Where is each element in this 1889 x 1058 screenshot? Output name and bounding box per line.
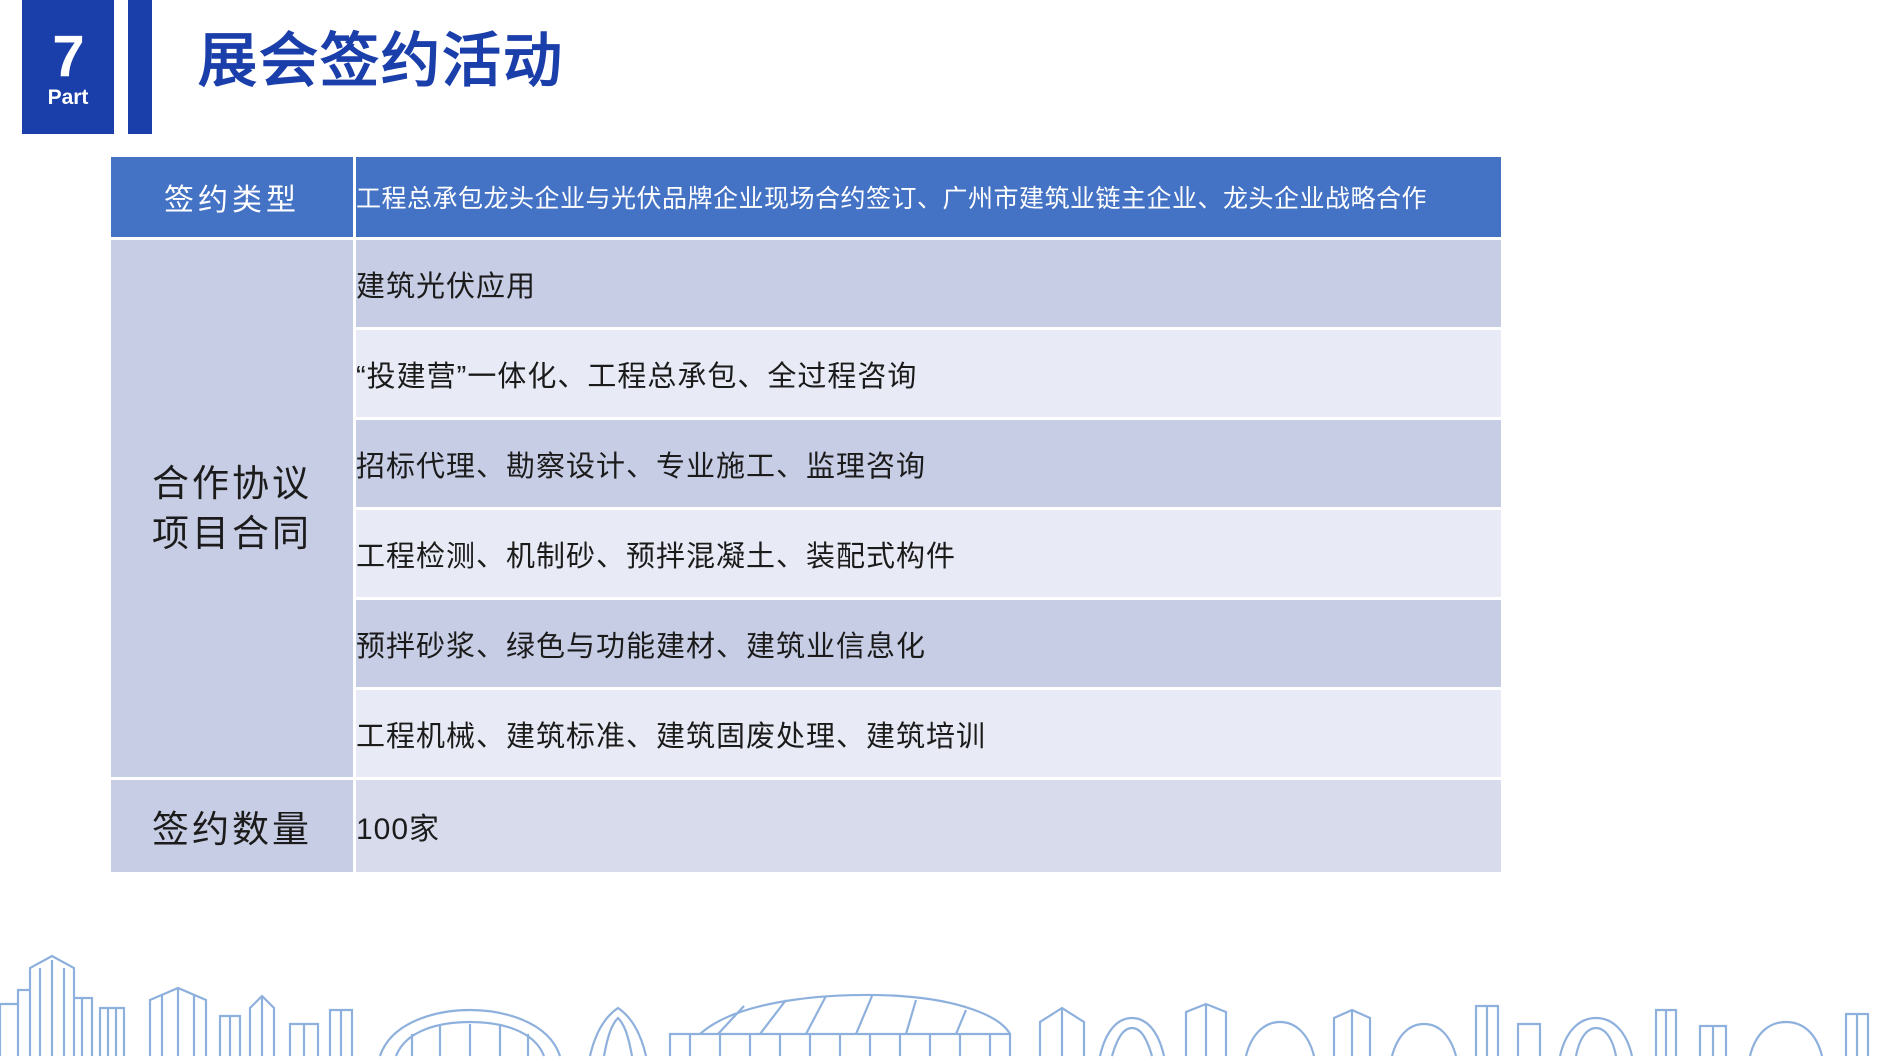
agreement-label-cell: 合作协议 项目合同 (111, 237, 353, 777)
agreement-item-cell: 工程机械、建筑标准、建筑固废处理、建筑培训 (353, 687, 1501, 777)
header-label-cell: 签约类型 (111, 157, 353, 237)
slide-header: 7 Part 展会签约活动 (0, 0, 564, 134)
part-badge: 7 Part (22, 0, 114, 134)
agreement-label-line2: 项目合同 (111, 509, 353, 559)
part-number: 7 (52, 31, 83, 83)
agreement-item-cell: 工程检测、机制砂、预拌混凝土、装配式构件 (353, 507, 1501, 597)
page-title: 展会签约活动 (198, 28, 564, 96)
table-row-header: 签约类型 工程总承包龙头企业与光伏品牌企业现场合约签订、广州市建筑业链主企业、龙… (111, 157, 1501, 237)
signing-table: 签约类型 工程总承包龙头企业与光伏品牌企业现场合约签订、广州市建筑业链主企业、龙… (111, 157, 1501, 872)
agreement-item-cell: 建筑光伏应用 (353, 237, 1501, 327)
agreement-item-cell: 预拌砂浆、绿色与功能建材、建筑业信息化 (353, 597, 1501, 687)
table-row: 合作协议 项目合同 建筑光伏应用 (111, 237, 1501, 327)
agreement-item-cell: 招标代理、勘察设计、专业施工、监理咨询 (353, 417, 1501, 507)
count-label-cell: 签约数量 (111, 777, 353, 872)
part-word-label: Part (48, 86, 89, 109)
header-value-cell: 工程总承包龙头企业与光伏品牌企业现场合约签订、广州市建筑业链主企业、龙头企业战略… (353, 157, 1501, 237)
agreement-item-cell: “投建营”一体化、工程总承包、全过程咨询 (353, 327, 1501, 417)
agreement-label-line1: 合作协议 (152, 463, 312, 504)
city-skyline-decoration (0, 938, 1889, 1058)
table-row-count: 签约数量 100家 (111, 777, 1501, 872)
title-accent-bar (128, 0, 152, 134)
count-value-cell: 100家 (353, 777, 1501, 872)
